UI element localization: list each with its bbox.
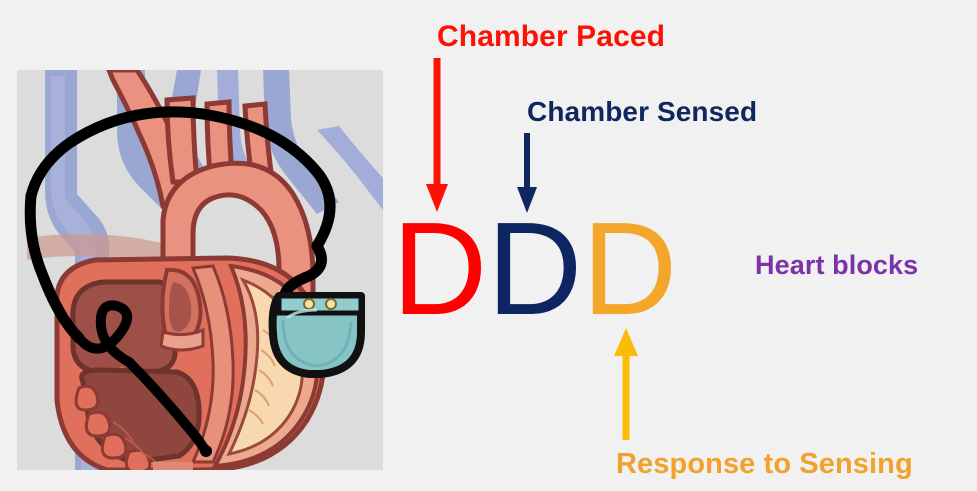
pacing-code-letter-chamber-sensed: D bbox=[487, 203, 582, 335]
pacing-code-letter-response-to-sensing: D bbox=[582, 203, 677, 335]
pacemaker-heart-illustration bbox=[17, 70, 383, 470]
arrow-chamber-paced bbox=[424, 58, 454, 214]
pacing-code-letter-chamber-paced: D bbox=[392, 203, 487, 335]
arrow-response-to-sensing bbox=[612, 328, 642, 444]
label-response-to-sensing: Response to Sensing bbox=[616, 450, 913, 479]
slide-canvas: Chamber Paced Chamber Sensed D D D Heart… bbox=[0, 0, 977, 491]
label-heart-blocks: Heart blocks bbox=[755, 252, 918, 279]
label-chamber-paced: Chamber Paced bbox=[437, 22, 665, 52]
label-chamber-sensed: Chamber Sensed bbox=[527, 98, 757, 126]
